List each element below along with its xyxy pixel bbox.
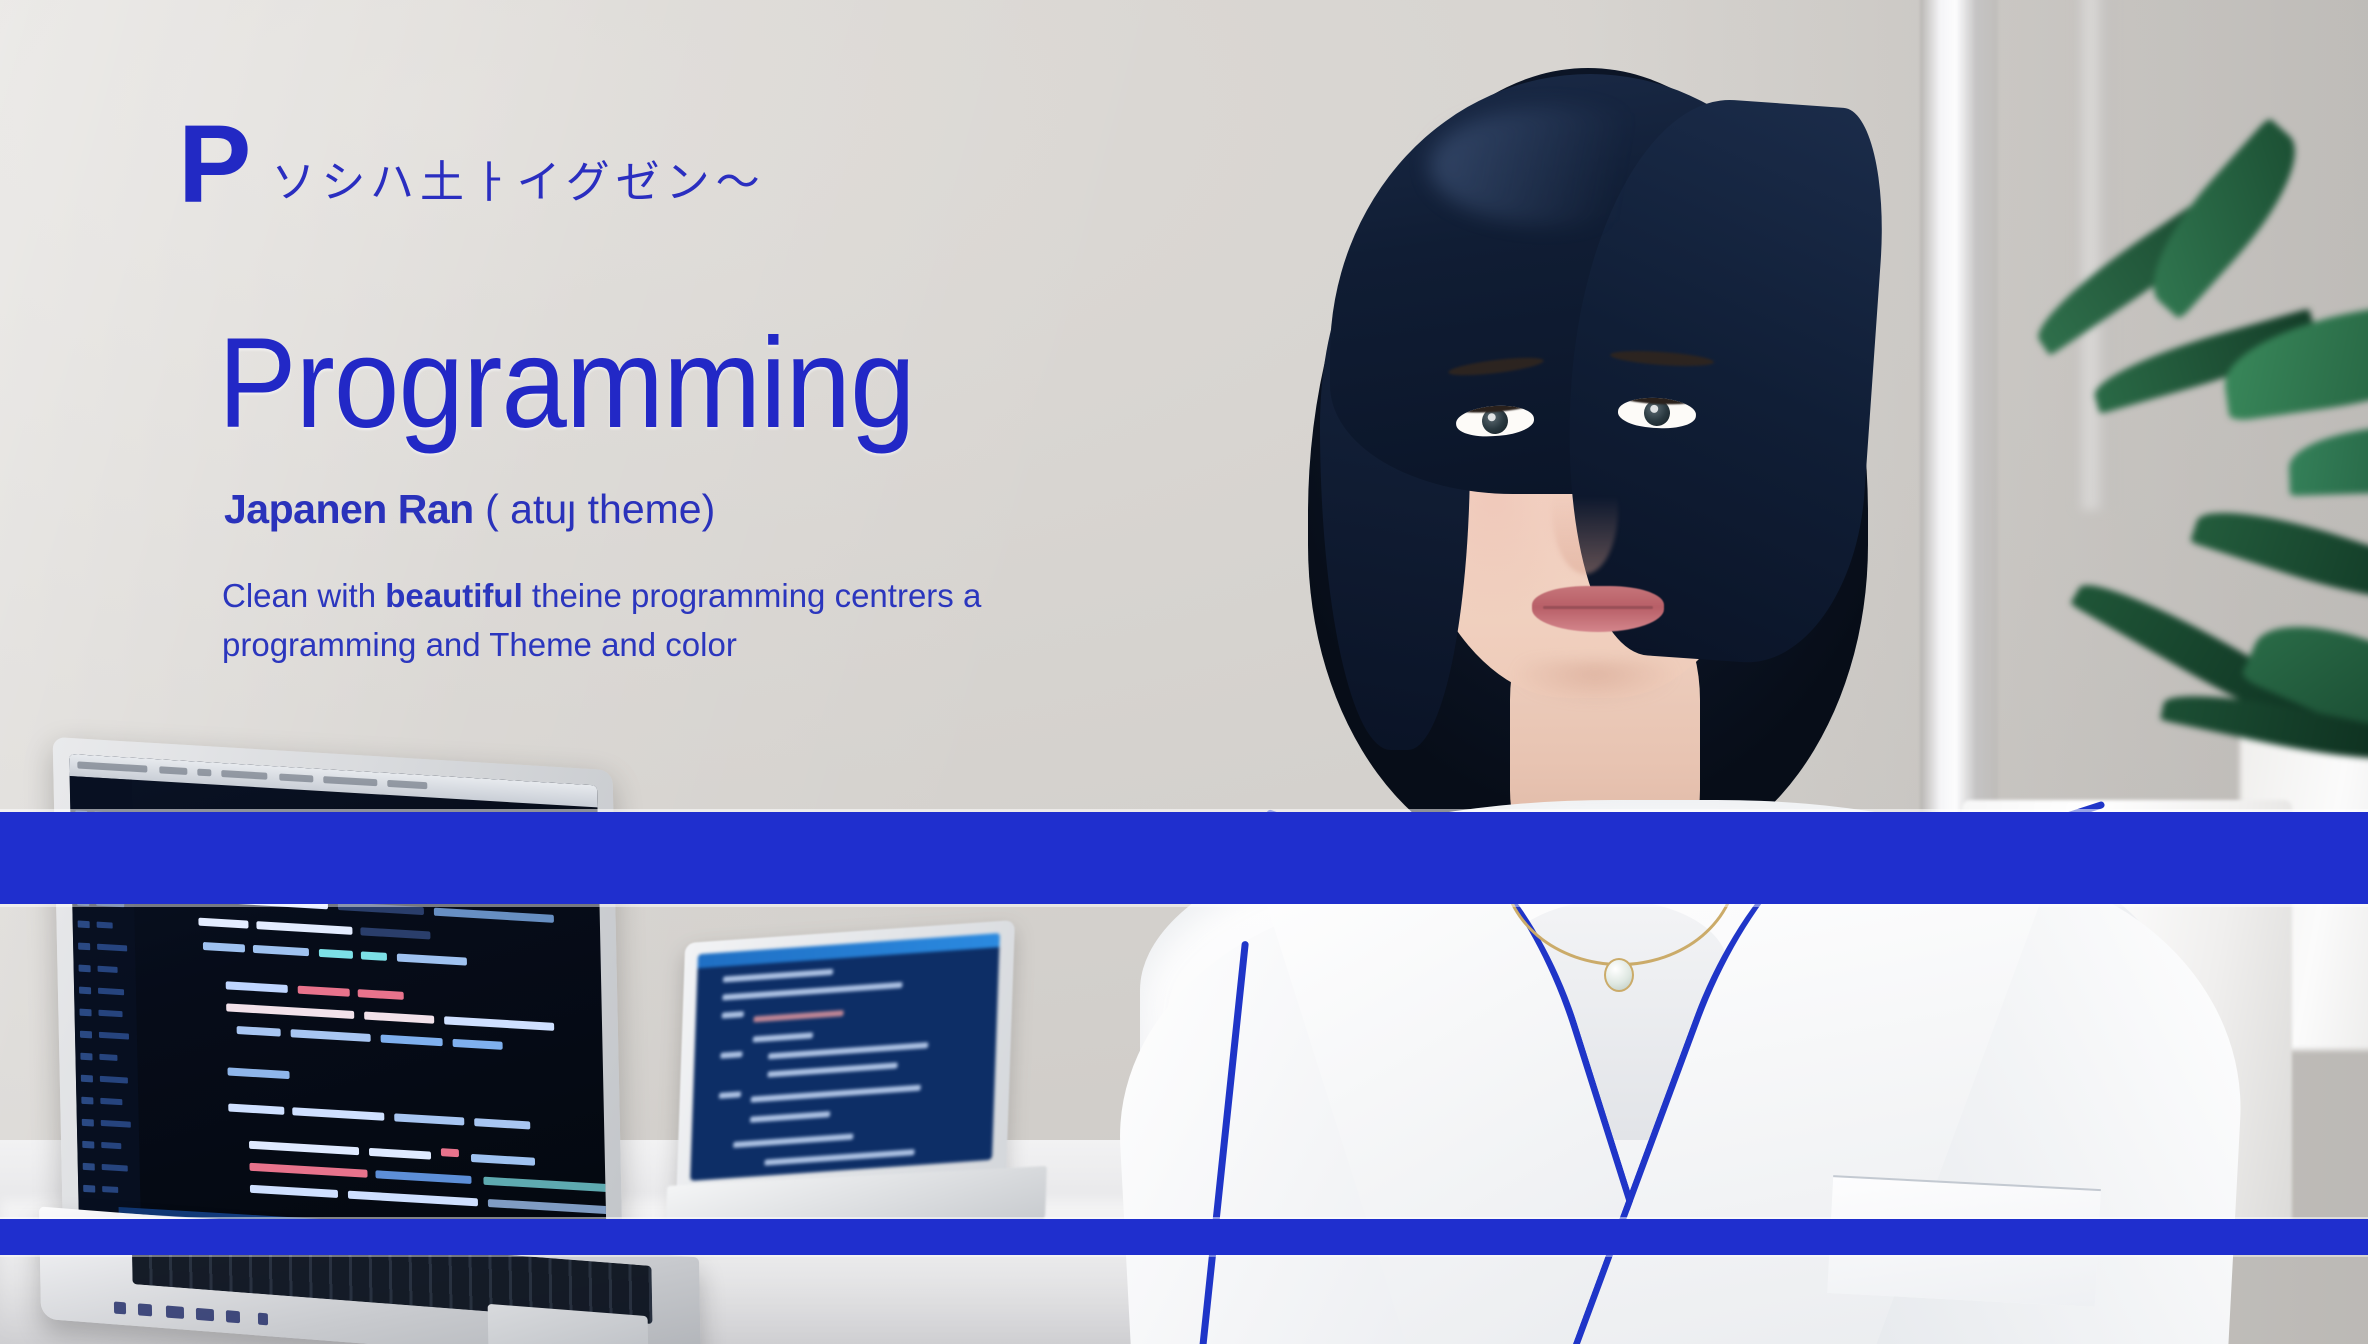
logo-letter-p: P: [178, 120, 249, 210]
body-line-1-c: theine programming centrers a: [523, 577, 982, 614]
accent-band-thin: [0, 1219, 2368, 1255]
chin-shadow: [1480, 660, 1710, 730]
poster-canvas: P ソシハ土ㅏイグゼン〜 Programming Japanen Ran ( a…: [0, 0, 2368, 1344]
logo-japanese-script: ソシハ土ㅏイグゼン〜: [271, 146, 765, 210]
body-paragraph: Clean with beautiful theine programming …: [222, 572, 1162, 670]
body-line-1-bold: beautiful: [385, 577, 523, 614]
subtitle: Japanen Ran ( atuȷ theme): [224, 486, 715, 533]
secondary-laptop-screen: [690, 933, 1000, 1181]
body-line-2: programming and Theme and color: [222, 626, 737, 663]
subtitle-bold: Japanen Ran: [224, 486, 474, 532]
subtitle-light: ( atuȷ theme): [485, 486, 715, 532]
nose: [1552, 444, 1618, 574]
brand-logo: P ソシハ土ㅏイグゼン〜: [178, 120, 766, 210]
secondary-laptop: [680, 932, 1010, 1222]
accent-band-thick: [0, 812, 2368, 904]
lips: [1532, 586, 1664, 632]
necklace-pendant: [1604, 958, 1634, 992]
page-title: Programming: [218, 320, 915, 448]
hair-highlight: [1430, 106, 1690, 226]
woman-in-white-lab-coat: [1180, 40, 2120, 1344]
body-line-1-a: Clean with: [222, 577, 385, 614]
